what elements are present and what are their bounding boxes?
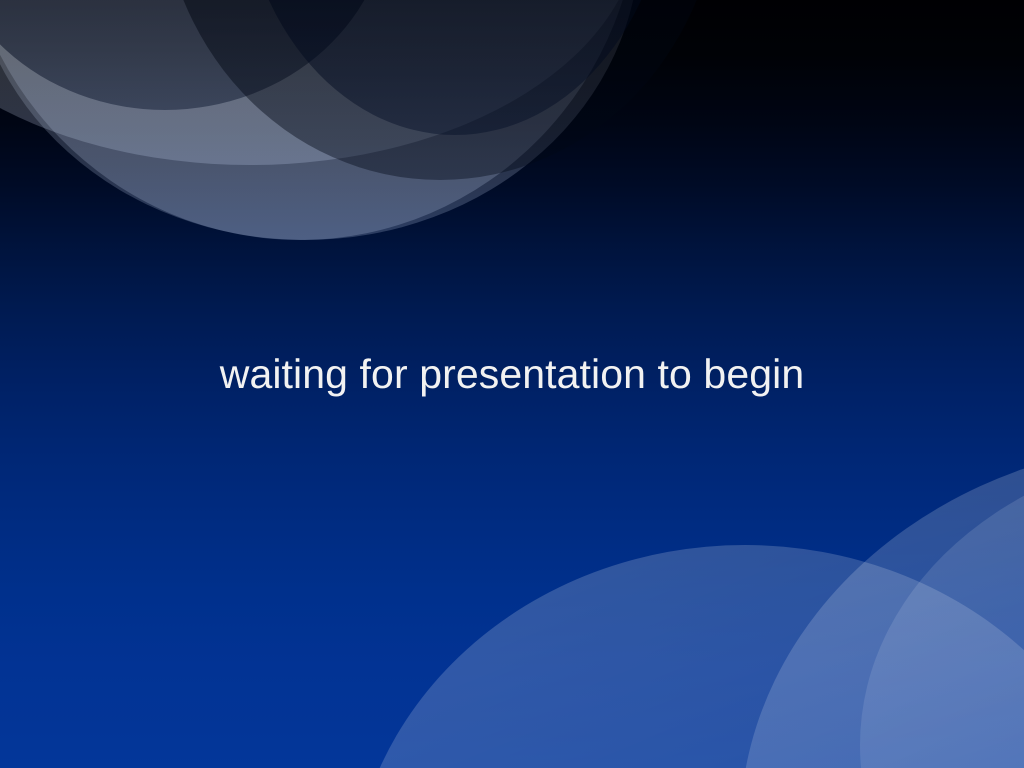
- slide-title-block: waiting for presentation to begin: [0, 352, 1024, 398]
- presentation-slide: waiting for presentation to begin: [0, 0, 1024, 768]
- slide-title: waiting for presentation to begin: [220, 352, 805, 398]
